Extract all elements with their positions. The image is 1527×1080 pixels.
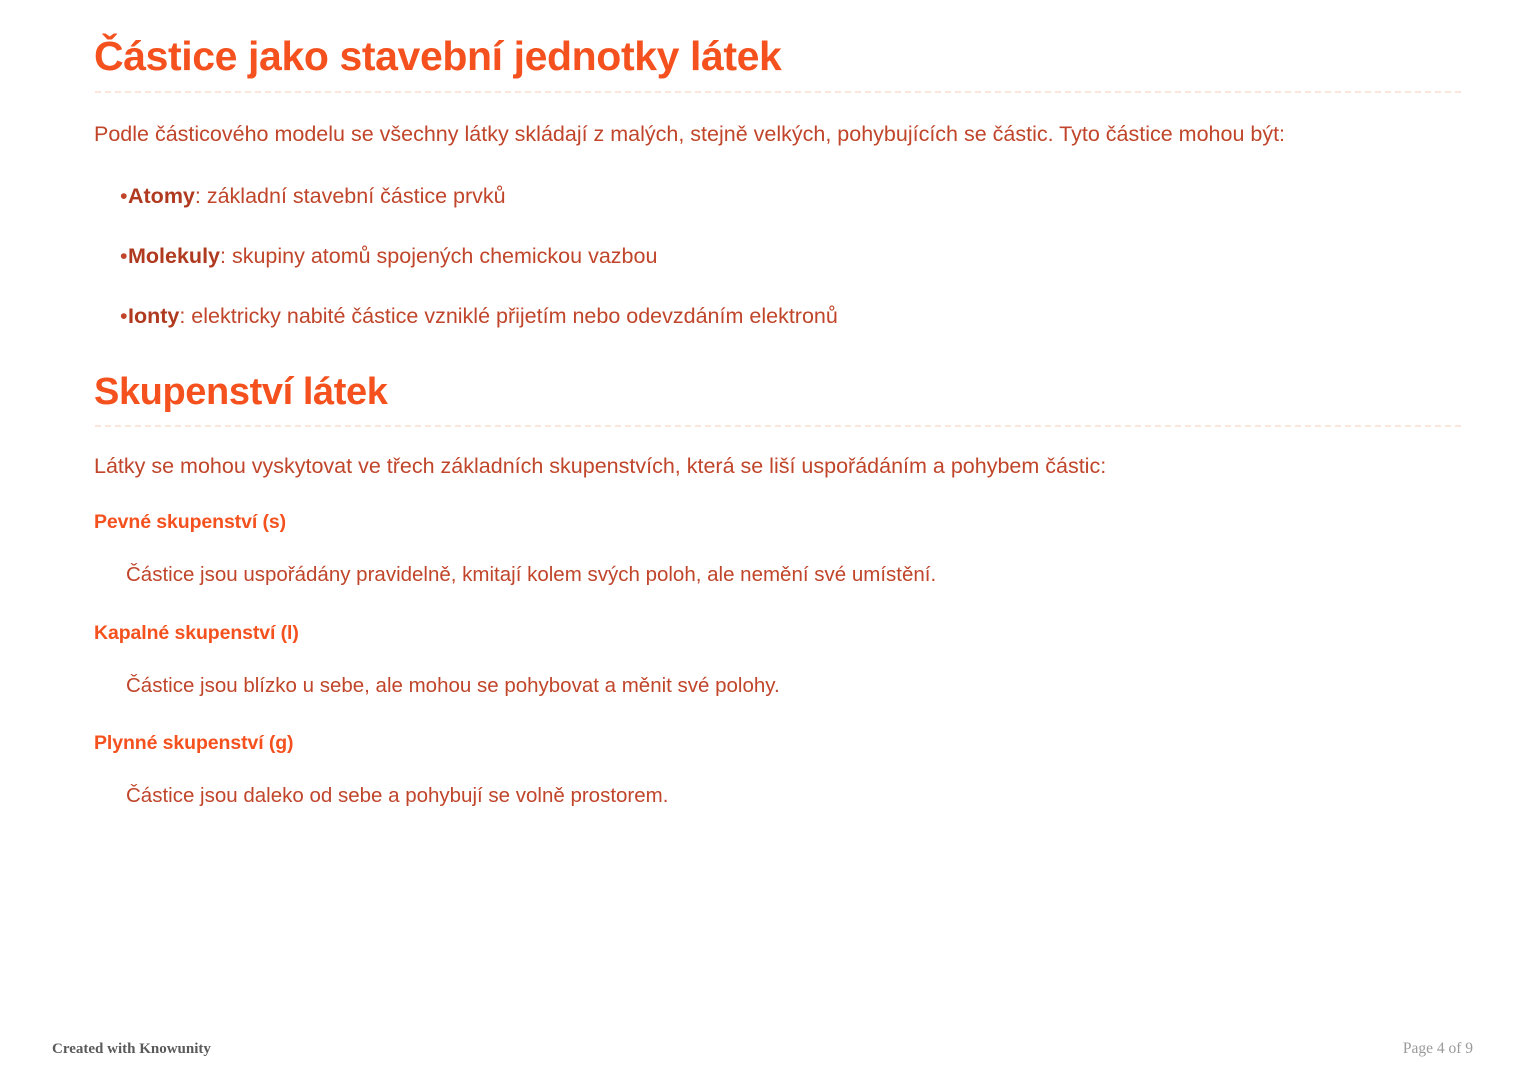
document-page: Částice jako stavební jednotky látek Pod… bbox=[0, 0, 1527, 1080]
subsection-heading-liquid: Kapalné skupenství (l) bbox=[94, 622, 1462, 645]
list-item: •Atomy: základní stavební částice prvků bbox=[94, 181, 1462, 211]
list-item-term: Atomy bbox=[128, 184, 195, 208]
list-item-term: Molekuly bbox=[128, 244, 220, 268]
section-states-of-matter: Skupenství látek Látky se mohou vyskytov… bbox=[94, 371, 1462, 811]
subsection-heading-gas: Plynné skupenství (g) bbox=[94, 732, 1462, 755]
bullet-dot-icon: • bbox=[120, 301, 128, 331]
list-item: •Ionty: elektricky nabité částice vznikl… bbox=[94, 301, 1462, 331]
subsection-heading-solid: Pevné skupenství (s) bbox=[94, 511, 1462, 534]
page-footer: Created with Knowunity Page 4 of 9 bbox=[0, 1010, 1527, 1080]
list-item-description: : základní stavební částice prvků bbox=[195, 184, 506, 208]
page-number-indicator: Page 4 of 9 bbox=[1403, 1040, 1473, 1058]
section-intro-paragraph: Látky se mohou vyskytovat ve třech zákla… bbox=[94, 451, 1462, 482]
section-intro-paragraph: Podle částicového modelu se všechny látk… bbox=[94, 119, 1462, 150]
list-item-description: : elektricky nabité částice vzniklé přij… bbox=[179, 304, 837, 328]
page-title: Částice jako stavební jednotky látek bbox=[94, 34, 1462, 80]
subsection-description-solid: Částice jsou uspořádány pravidelně, kmit… bbox=[94, 561, 1462, 590]
section-heading: Skupenství látek bbox=[94, 371, 1462, 414]
bullet-dot-icon: • bbox=[120, 181, 128, 211]
footer-credit: Created with Knowunity bbox=[52, 1041, 211, 1058]
particle-type-list: •Atomy: základní stavební částice prvků … bbox=[94, 181, 1462, 331]
list-item-term: Ionty bbox=[128, 304, 179, 328]
page-content: Částice jako stavební jednotky látek Pod… bbox=[94, 34, 1462, 811]
section-divider bbox=[95, 425, 1461, 427]
subsection-description-gas: Částice jsou daleko od sebe a pohybují s… bbox=[94, 782, 1462, 811]
section-particles: Částice jako stavební jednotky látek Pod… bbox=[94, 34, 1462, 331]
bullet-dot-icon: • bbox=[120, 241, 128, 271]
subsection-description-liquid: Částice jsou blízko u sebe, ale mohou se… bbox=[94, 672, 1462, 701]
title-divider bbox=[95, 91, 1461, 93]
list-item: •Molekuly: skupiny atomů spojených chemi… bbox=[94, 241, 1462, 271]
list-item-description: : skupiny atomů spojených chemickou vazb… bbox=[220, 244, 657, 268]
